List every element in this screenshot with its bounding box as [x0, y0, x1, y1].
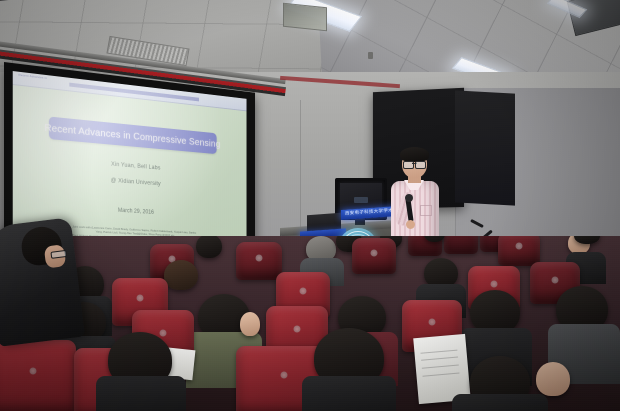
slide-title-banner: Recent Advances in Compressive Sensing	[49, 116, 217, 154]
slide-title: Recent Advances in Compressive Sensing	[44, 122, 220, 150]
audience-body	[302, 376, 396, 411]
monitor-logo	[354, 197, 368, 203]
seat[interactable]	[444, 236, 478, 254]
audience-face	[240, 312, 260, 336]
presenter-hair	[400, 147, 429, 162]
dark-wall-panel-right	[455, 90, 515, 205]
sprinkler-head-icon	[368, 52, 373, 59]
lecture-hall-screenshot: Recent Advances in Recent Advances in Co…	[0, 0, 620, 411]
seat[interactable]	[236, 242, 282, 280]
audience-body	[96, 376, 186, 411]
previous-slide-title: Recent Advances in	[19, 73, 48, 80]
audience-head	[164, 260, 198, 290]
slide-date: March 29, 2016	[13, 201, 247, 221]
ceiling-air-vent	[283, 3, 327, 32]
seat[interactable]	[352, 238, 396, 274]
seat[interactable]	[498, 236, 540, 266]
audience-head	[196, 236, 222, 258]
presenter-shirt-pocket	[420, 205, 432, 216]
seated-audience	[0, 236, 620, 411]
seat[interactable]	[0, 340, 76, 411]
microphone-head	[405, 194, 413, 202]
audience-body	[452, 394, 548, 411]
person-dark-jacket-left-foreground	[0, 217, 85, 347]
audience-head	[536, 362, 570, 396]
presenter-glasses	[403, 161, 426, 167]
presenter-hand	[406, 220, 415, 229]
